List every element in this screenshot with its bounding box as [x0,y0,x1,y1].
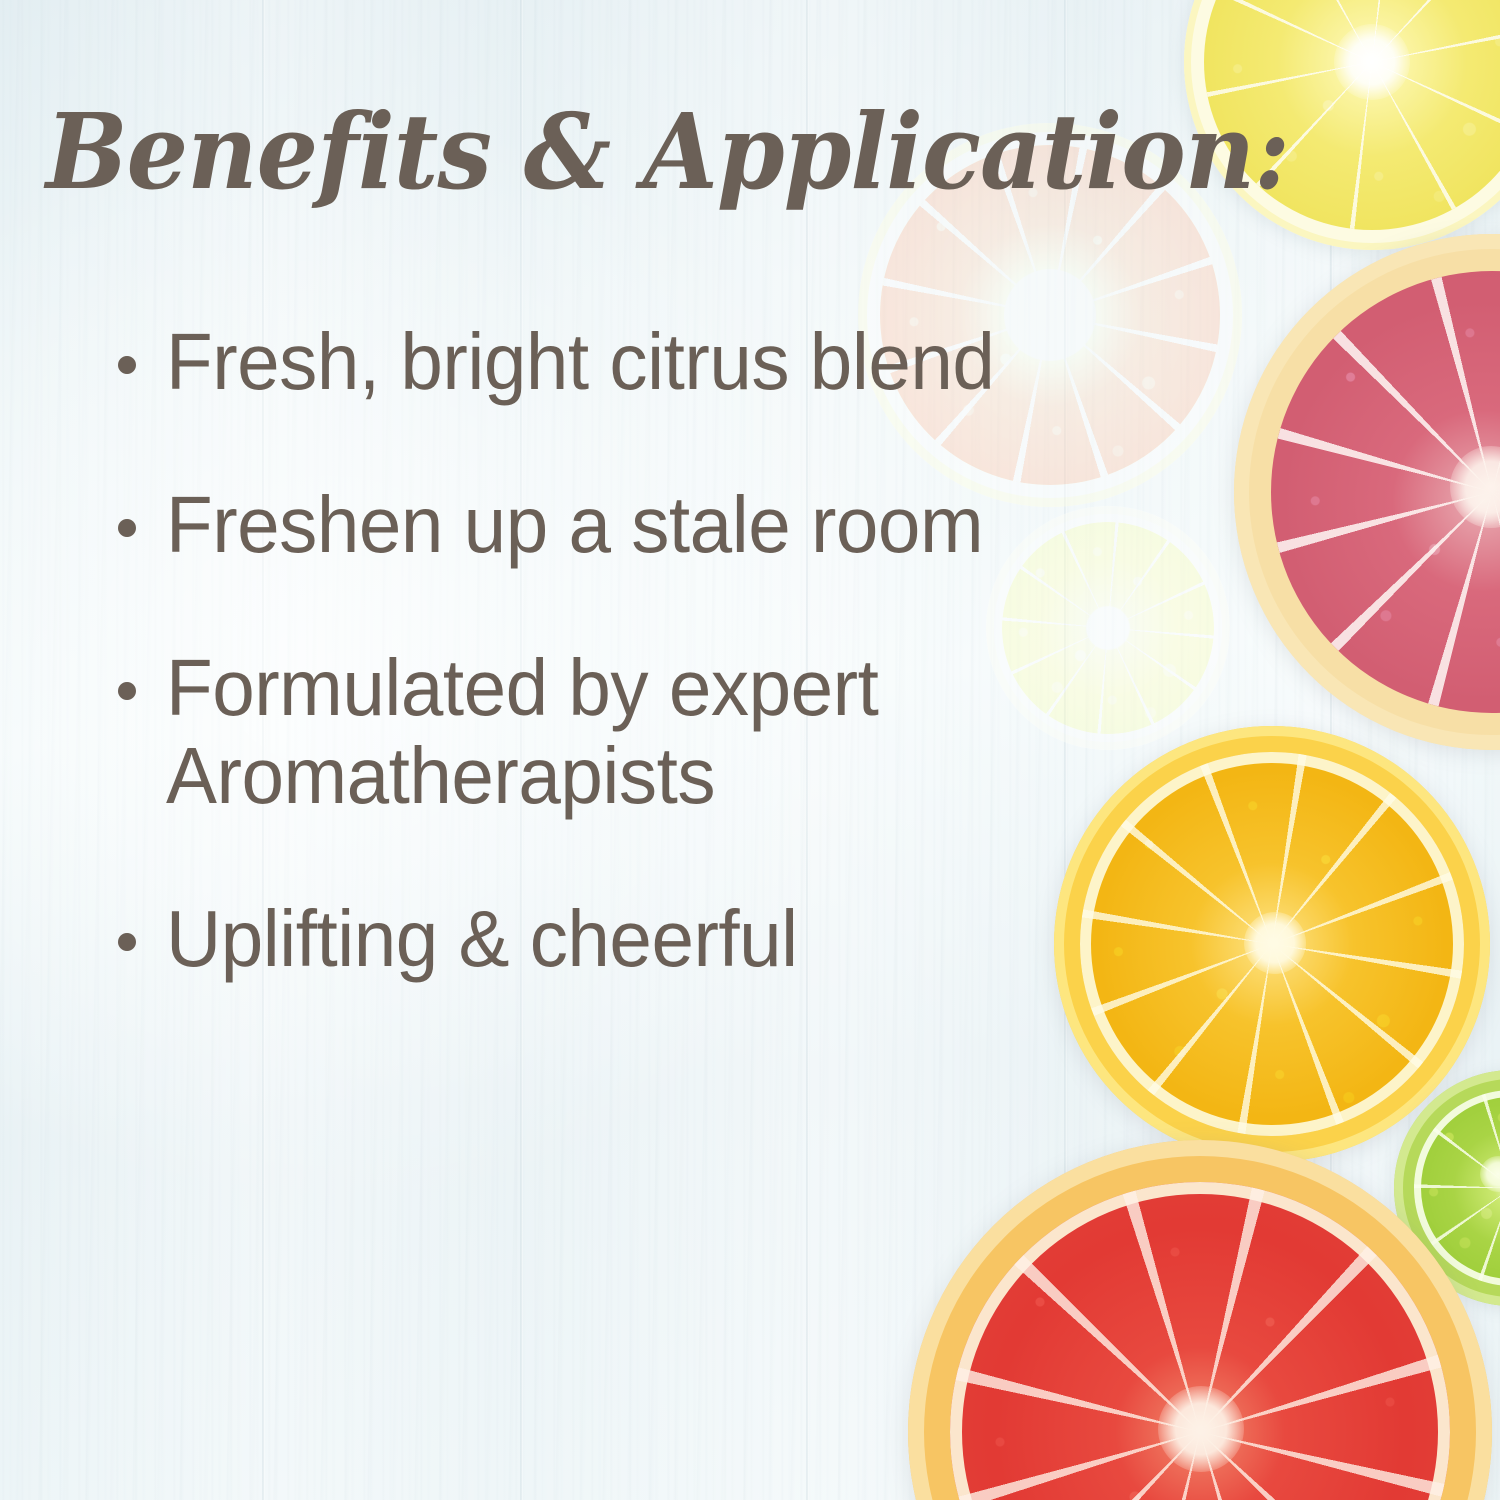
list-item: Freshen up a stale room [118,481,1078,570]
list-item: Uplifting & cheerful [118,895,1078,984]
bullet-dot-icon [118,682,136,700]
benefit-text: Freshen up a stale room [166,481,1037,570]
lemon-core [1334,24,1410,100]
benefit-text: Fresh, bright citrus blend [166,318,1037,407]
benefit-text: Uplifting & cheerful [166,895,1037,984]
orange-core [1244,912,1306,974]
marketing-graphic-canvas: Benefits & Application: Fresh, bright ci… [0,0,1500,1500]
bullet-dot-icon [118,519,136,537]
list-item: Fresh, bright citrus blend [118,318,1078,407]
bullet-dot-icon [118,356,136,374]
orange-slice-middle-right-icon [1054,726,1490,1162]
page-title: Benefits & Application: [46,100,1264,204]
list-item: Formulated by expert Aromatherapists [118,644,1078,822]
benefit-text: Formulated by expert Aromatherapists [166,644,1037,822]
bullet-dot-icon [118,933,136,951]
lime-pale-core [1086,606,1130,650]
benefits-list: Fresh, bright citrus blend Freshen up a … [118,318,1078,984]
grapefruit-red-core [1158,1386,1244,1472]
